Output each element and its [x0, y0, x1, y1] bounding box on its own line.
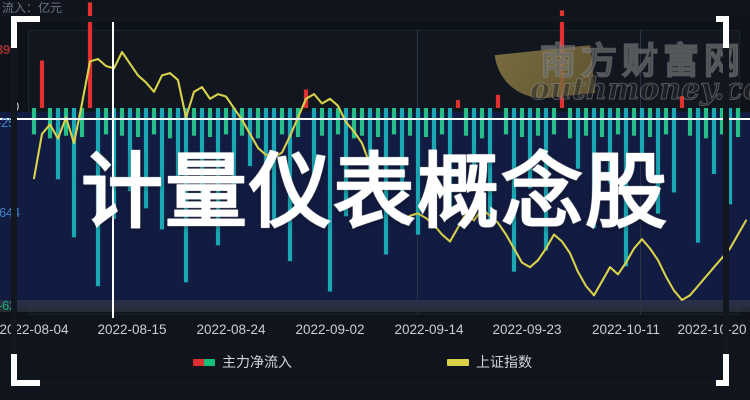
stock-chart-poster: 395 0 -25 -644 -62 流入：亿元 2022-08-042022-… — [0, 0, 750, 400]
legend-line-swatch-icon — [447, 359, 469, 366]
legend-item[interactable]: 上证指数 — [447, 352, 532, 372]
legend-label: 主力净流入 — [222, 352, 292, 372]
frame-notch-bottom — [40, 380, 716, 386]
page-title: 计量仪表概念股 — [0, 152, 750, 234]
chart-unit-label: 流入：亿元 — [2, 0, 62, 16]
legend-label: 上证指数 — [476, 352, 532, 372]
frame-notch-top — [40, 16, 716, 22]
x-axis-label: 2022-09-14 — [394, 322, 463, 337]
chart-legend: 主力净流入上证指数 — [0, 352, 750, 376]
x-axis-label: 2022-08-24 — [196, 322, 265, 337]
legend-item[interactable]: 主力净流入 — [193, 352, 292, 372]
legend-bar-swatch-icon — [193, 359, 215, 366]
x-axis-label: 2022-10-11 — [592, 322, 660, 337]
x-axis-label: 2022-09-23 — [492, 322, 561, 337]
x-axis-label: 2022-08-15 — [97, 322, 166, 337]
x-axis: 2022-08-042022-08-152022-08-242022-09-02… — [0, 318, 750, 344]
x-axis-label: 2022-10-20 — [677, 322, 746, 337]
x-axis-label: 2022-09-02 — [295, 322, 364, 337]
